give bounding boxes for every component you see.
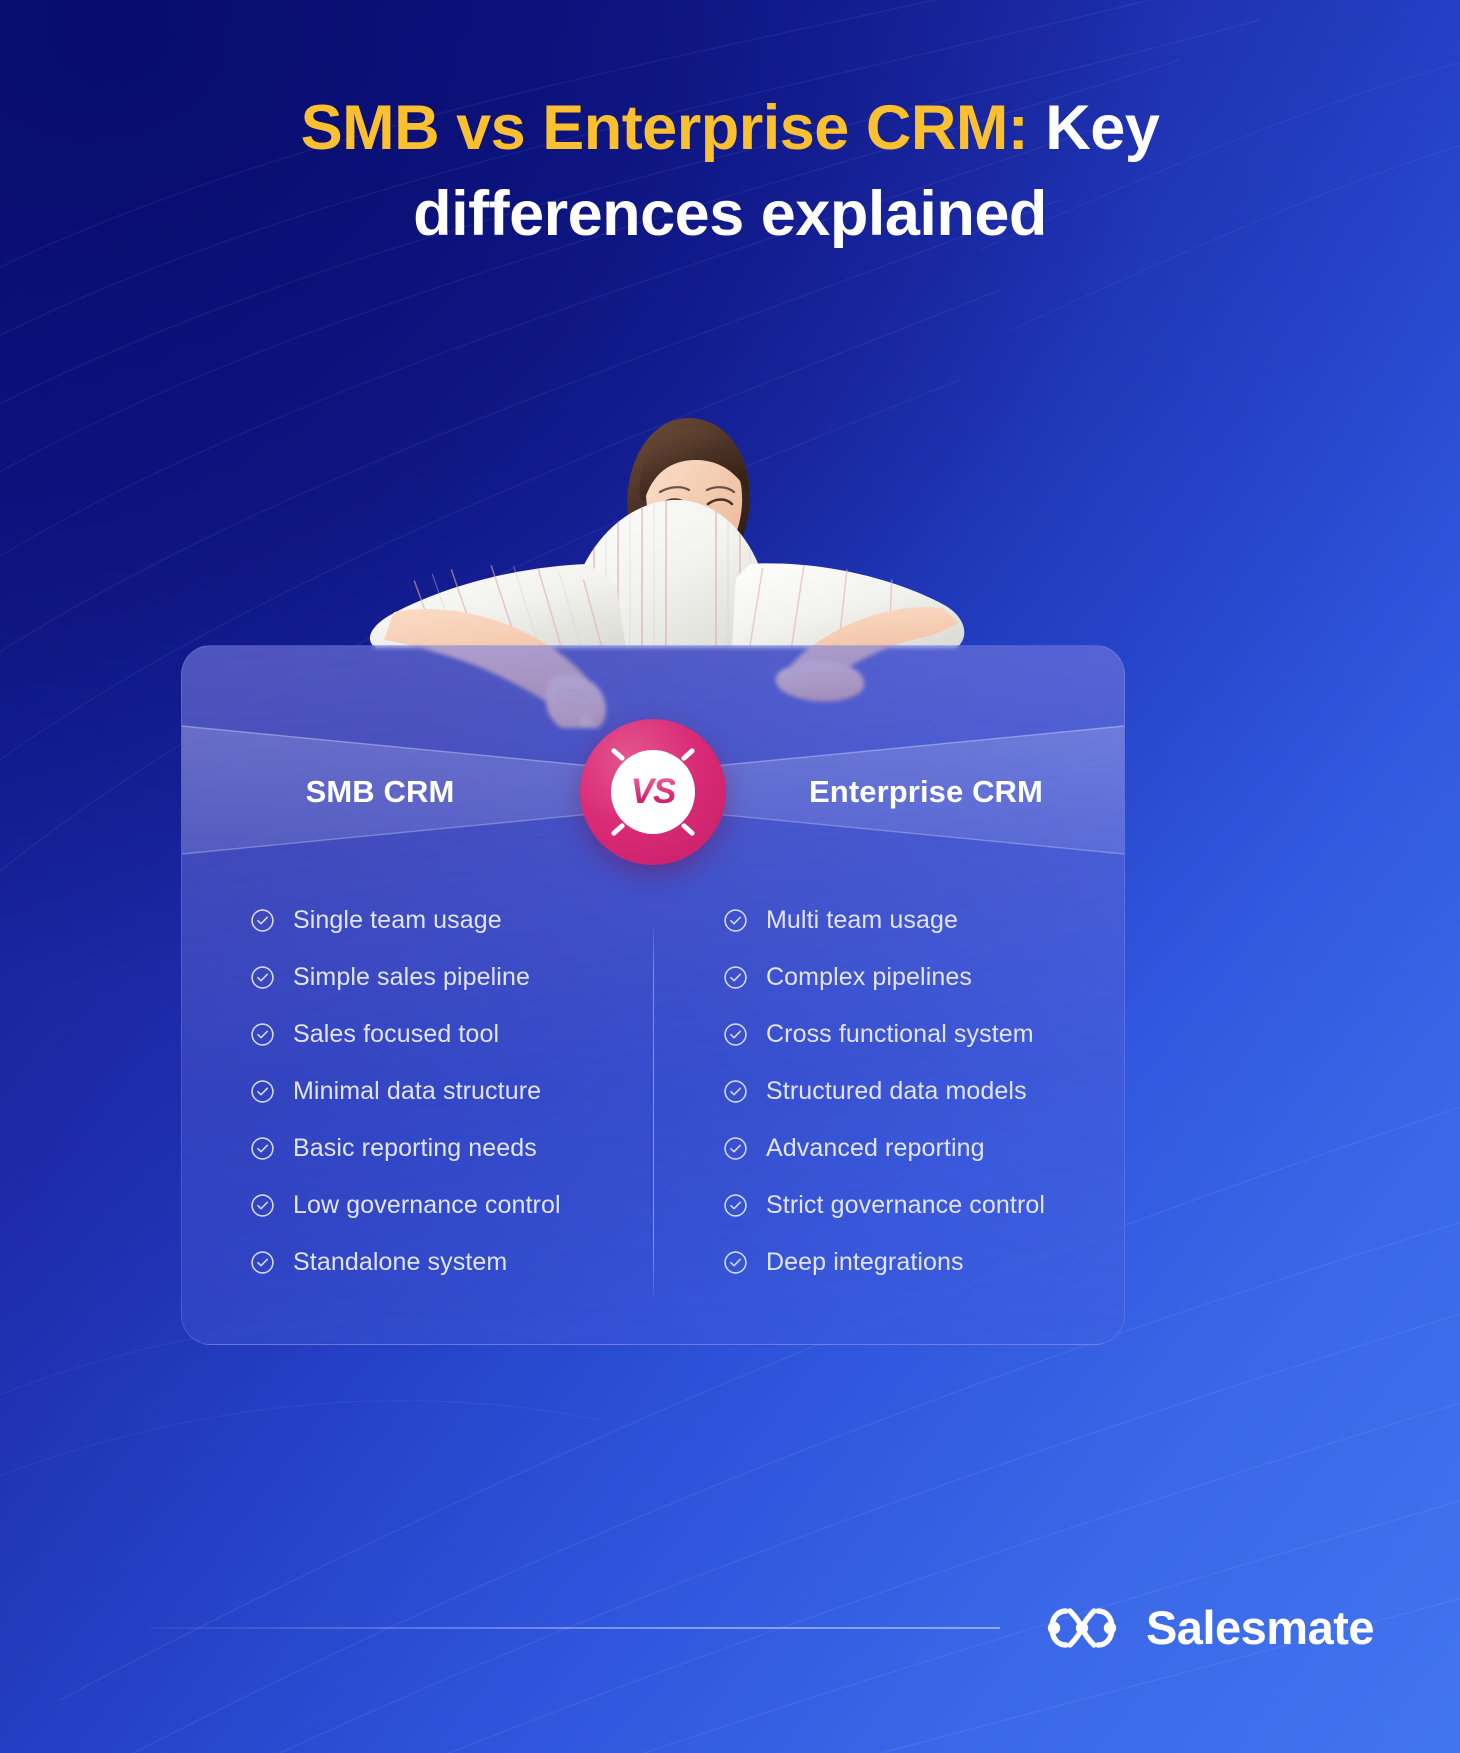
title-accent: SMB vs Enterprise CRM: — [301, 93, 1029, 163]
list-item-label: Complex pipelines — [766, 963, 972, 992]
list-item-label: Sales focused tool — [293, 1020, 499, 1049]
salesmate-logo-icon — [1040, 1601, 1124, 1655]
column-enterprise-list: Multi team usage Complex pipelines Cross… — [651, 892, 1124, 1291]
list-item: Low governance control — [250, 1177, 651, 1234]
list-item-label: Low governance control — [293, 1191, 561, 1220]
column-header-smb: SMB CRM — [182, 774, 578, 810]
column-divider — [653, 922, 654, 1302]
footer-divider — [150, 1627, 1000, 1629]
list-item: Cross functional system — [723, 1006, 1124, 1063]
footer: Salesmate — [0, 1600, 1460, 1655]
comparison-card: SMB CRM Enterprise CRM VS Single team us… — [181, 645, 1125, 1345]
list-item: Single team usage — [250, 892, 651, 949]
check-circle-icon — [723, 965, 748, 990]
check-circle-icon — [250, 1079, 275, 1104]
list-item-label: Strict governance control — [766, 1191, 1045, 1220]
list-item-label: Basic reporting needs — [293, 1134, 537, 1163]
list-item: Sales focused tool — [250, 1006, 651, 1063]
list-item-label: Minimal data structure — [293, 1077, 541, 1106]
list-item: Simple sales pipeline — [250, 949, 651, 1006]
column-smb-list: Single team usage Simple sales pipeline … — [182, 892, 651, 1291]
brand-logo: Salesmate — [1040, 1600, 1374, 1655]
list-item: Minimal data structure — [250, 1063, 651, 1120]
check-circle-icon — [723, 1022, 748, 1047]
list-item-label: Advanced reporting — [766, 1134, 985, 1163]
list-item: Deep integrations — [723, 1234, 1124, 1291]
list-item: Strict governance control — [723, 1177, 1124, 1234]
list-item-label: Single team usage — [293, 906, 502, 935]
list-item-label: Simple sales pipeline — [293, 963, 530, 992]
list-item: Standalone system — [250, 1234, 651, 1291]
check-circle-icon — [723, 1193, 748, 1218]
check-circle-icon — [723, 1250, 748, 1275]
list-item: Structured data models — [723, 1063, 1124, 1120]
vs-badge: VS — [580, 719, 726, 865]
column-header-enterprise: Enterprise CRM — [728, 774, 1124, 810]
check-circle-icon — [250, 1136, 275, 1161]
check-circle-icon — [723, 1136, 748, 1161]
check-circle-icon — [250, 965, 275, 990]
list-item-label: Standalone system — [293, 1248, 507, 1277]
check-circle-icon — [250, 1022, 275, 1047]
list-item: Multi team usage — [723, 892, 1124, 949]
check-circle-icon — [250, 1250, 275, 1275]
check-circle-icon — [250, 908, 275, 933]
list-item-label: Cross functional system — [766, 1020, 1034, 1049]
infographic-poster: SMB vs Enterprise CRM: Key differences e… — [0, 0, 1460, 1753]
list-item: Basic reporting needs — [250, 1120, 651, 1177]
check-circle-icon — [250, 1193, 275, 1218]
check-circle-icon — [723, 908, 748, 933]
check-circle-icon — [723, 1079, 748, 1104]
list-item: Complex pipelines — [723, 949, 1124, 1006]
vs-tick-marks — [580, 719, 726, 865]
list-item-label: Multi team usage — [766, 906, 958, 935]
page-title: SMB vs Enterprise CRM: Key differences e… — [0, 86, 1460, 257]
brand-name: Salesmate — [1146, 1600, 1374, 1655]
list-item-label: Structured data models — [766, 1077, 1027, 1106]
list-item-label: Deep integrations — [766, 1248, 964, 1277]
list-item: Advanced reporting — [723, 1120, 1124, 1177]
